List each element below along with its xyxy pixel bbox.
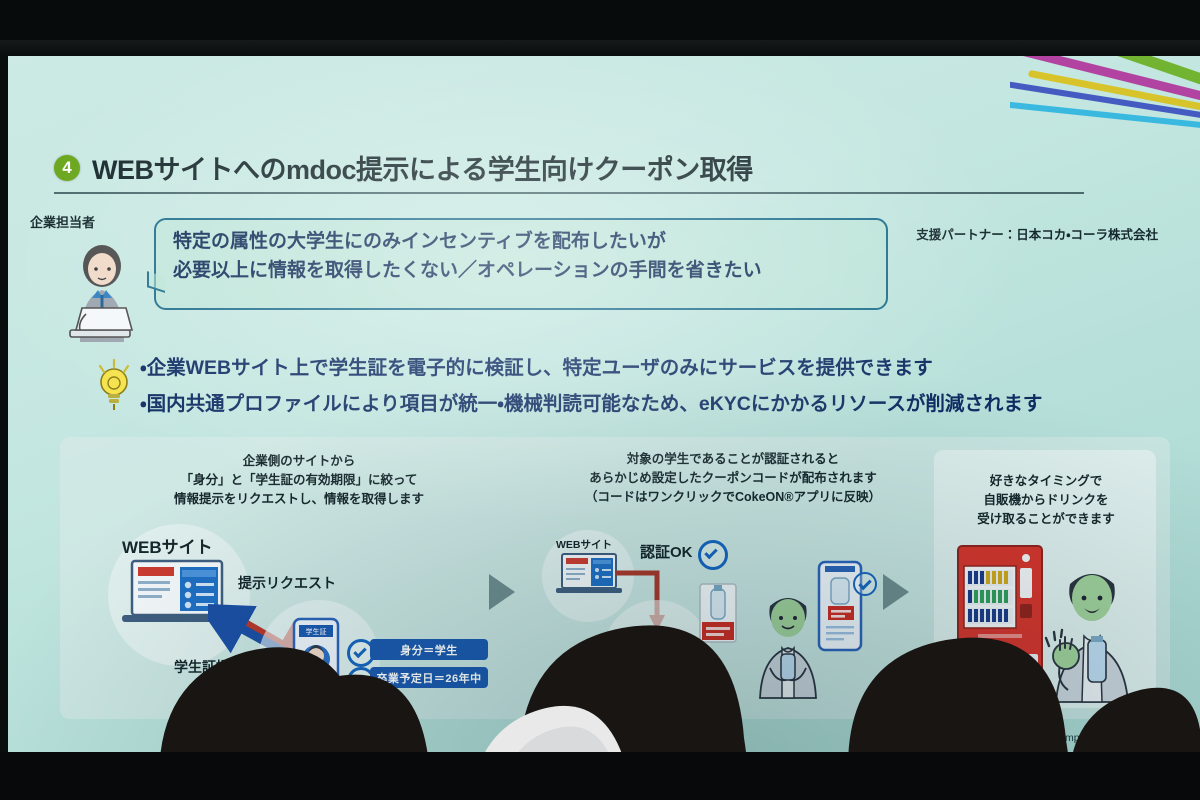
request-arrow-label: 提示リクエスト xyxy=(238,573,336,593)
lightbulb-icon xyxy=(92,356,136,418)
coupon-drink-icon xyxy=(698,582,738,644)
attribute-badge-identity: 身分＝学生 xyxy=(370,639,488,660)
attribute-badge-graduation: 卒業予定日＝26年中 xyxy=(370,667,488,688)
page-title: WEBサイトへのmdoc提示による学生向けクーポン取得 xyxy=(92,148,753,187)
speech-bubble-text: 特定の属性の大学生にのみインセンティブを配布したいが 必要以上に情報を取得したく… xyxy=(173,227,873,286)
student-id-phone-icon: 学生証 xyxy=(288,617,344,713)
businesswoman-illustration xyxy=(46,238,166,348)
phone-card-title: 学生証 xyxy=(306,627,327,636)
projection-scene: 4 WEBサイトへのmdoc提示による学生向けクーポン取得 支援パートナー：日本… xyxy=(0,0,1200,800)
bullet-item: ・企業WEBサイト上で学生証を電子的に検証し、特定ユーザのみにサービスを提供でき… xyxy=(140,358,1180,378)
step2-website-label: WEBサイト xyxy=(556,537,612,552)
persona-label: 企業担当者 xyxy=(30,212,95,231)
ribbon-decoration xyxy=(1010,52,1200,147)
step2-caption: 対象の学生であることが認証されるとあらかじめ設定したクーポンコードが配布されます… xyxy=(528,450,938,506)
screen-bezel-bottom xyxy=(0,752,1200,800)
slide-number-badge: 4 xyxy=(54,155,80,181)
check-icon xyxy=(853,572,877,596)
vending-machine-icon xyxy=(956,544,1044,692)
benefit-bullets: ・企業WEBサイト上で学生証を電子的に検証し、特定ユーザのみにサービスを提供でき… xyxy=(140,358,1180,431)
coke-on-logo: Coke ON xyxy=(612,638,697,662)
auth-ok-label: 認証OK xyxy=(640,541,693,562)
title-underline xyxy=(54,192,1084,194)
trademark-note: CokeONはThe Coca-Cola Companyの登録商標です xyxy=(927,730,1170,745)
bubble-line-2: 必要以上に情報を取得したくない／オペレーションの手間を省きたい xyxy=(173,256,873,285)
step1-website-label: WEBサイト xyxy=(122,533,213,558)
happy-student-illustration xyxy=(1038,564,1143,704)
bubble-line-1: 特定の属性の大学生にのみインセンティブを配布したいが xyxy=(173,227,873,256)
partner-note: 支援パートナー：日本コカ・コーラ株式会社 xyxy=(916,224,1158,243)
presentation-slide: 4 WEBサイトへのmdoc提示による学生向けクーポン取得 支援パートナー：日本… xyxy=(8,52,1200,752)
step3-caption: 好きなタイミングで自販機からドリンクを受け取ることができます xyxy=(944,472,1148,528)
flow-arrow-2 xyxy=(883,574,909,610)
slide-title-row: 4 WEBサイトへのmdoc提示による学生向けクーポン取得 xyxy=(54,148,1054,187)
screen-bezel-top xyxy=(0,0,1200,54)
bullet-item: ・国内共通プロファイルにより項目が統一・機械判読可能なため、eKYCにかかるリソ… xyxy=(140,394,1180,414)
flow-arrow-1 xyxy=(489,574,515,610)
step1-caption: 企業側のサイトから「身分」と「学生証の有効期限」に絞って情報提示をリクエストし、… xyxy=(104,452,494,508)
check-icon xyxy=(698,540,728,570)
